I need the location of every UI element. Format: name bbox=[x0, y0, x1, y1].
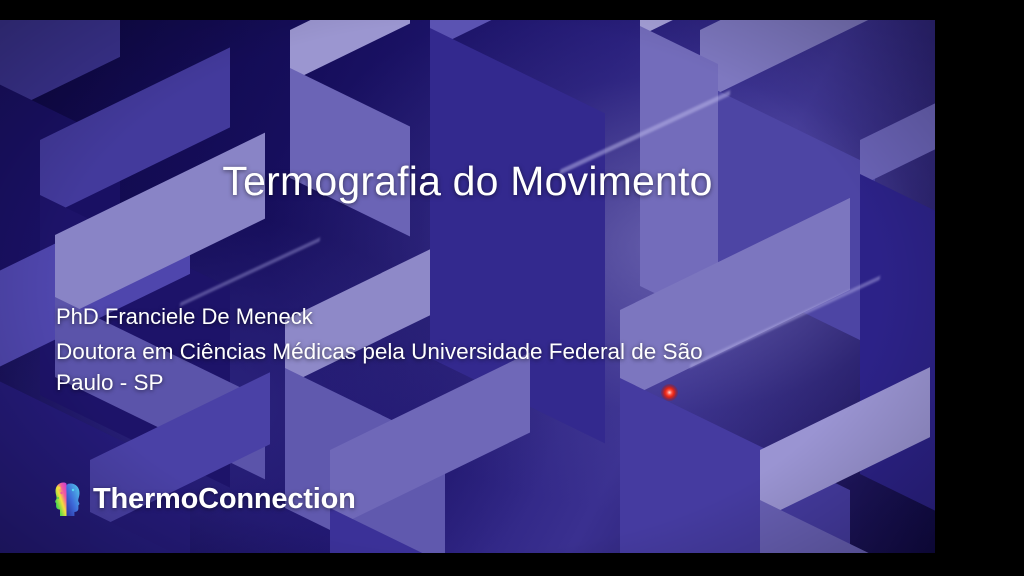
brand-wordmark: ThermoConnection bbox=[93, 483, 356, 516]
thermal-head-profile-icon bbox=[50, 479, 84, 519]
background-vignette bbox=[0, 20, 935, 553]
presenter-affiliation: Doutora em Ciências Médicas pela Univers… bbox=[56, 337, 818, 398]
letterbox-bar-bottom bbox=[0, 553, 1024, 576]
slide-title: Termografia do Movimento bbox=[0, 158, 935, 205]
affiliation-line-2: Paulo - SP bbox=[56, 368, 818, 398]
presentation-slide: Termografia do Movimento PhD Franciele D… bbox=[0, 20, 935, 553]
screen-recording-frame: Termografia do Movimento PhD Franciele D… bbox=[0, 0, 1024, 576]
brand-logo: ThermoConnection bbox=[50, 479, 356, 519]
affiliation-line-1: Doutora em Ciências Médicas pela Univers… bbox=[56, 339, 703, 364]
letterbox-bar-top bbox=[0, 0, 1024, 20]
letterbox-bar-right bbox=[935, 0, 1024, 576]
presenter-name: PhD Franciele De Meneck bbox=[56, 302, 818, 331]
slide-subtitle-block: PhD Franciele De Meneck Doutora em Ciênc… bbox=[56, 302, 818, 398]
laser-pointer-dot bbox=[661, 384, 678, 401]
